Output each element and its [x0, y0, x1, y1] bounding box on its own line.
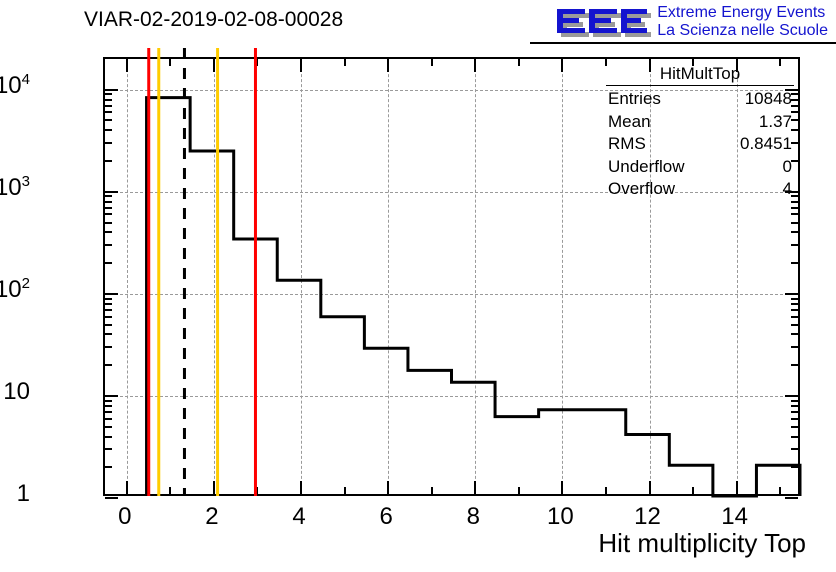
y-tick-minor-right [791, 418, 798, 420]
y-tick-minor-right [791, 364, 798, 366]
y-axis-label: 10 [3, 378, 30, 406]
y-tick-minor [105, 93, 112, 95]
stats-label-rms: RMS [608, 133, 646, 156]
y-tick-minor [105, 129, 112, 131]
y-tick-minor [105, 160, 112, 162]
y-tick-minor [105, 244, 112, 246]
x-axis-title: Hit multiplicity Top [598, 528, 806, 559]
y-tick-minor [105, 316, 112, 318]
y-tick-minor-right [791, 333, 798, 335]
plot-canvas: VIAR-02-2019-02-08-00028 [0, 0, 836, 572]
x-tick-minor [344, 487, 346, 494]
stats-value-underflow: 0 [783, 156, 792, 179]
y-tick-minor [105, 119, 112, 121]
x-tick-minor [169, 487, 171, 494]
x-gridline [475, 59, 476, 494]
y-tick-minor [105, 426, 112, 428]
x-tick-minor-top [518, 59, 520, 66]
y-axis-label: 104 [0, 72, 30, 100]
header-divider [530, 42, 836, 44]
y-tick-major-right [785, 497, 798, 499]
stats-label-entries: Entries [608, 88, 661, 111]
x-axis-label: 0 [118, 503, 131, 531]
stats-label-overflow: Overflow [608, 178, 675, 201]
stats-label-underflow: Underflow [608, 156, 685, 179]
y-tick-minor [105, 207, 112, 209]
y-tick-minor-right [791, 244, 798, 246]
y-tick-minor [105, 309, 112, 311]
x-tick-major [561, 481, 563, 494]
y-tick-minor [105, 262, 112, 264]
y-tick-minor [105, 405, 112, 407]
y-tick-major [105, 191, 118, 193]
y-tick-minor [105, 99, 112, 101]
x-tick-major [300, 481, 302, 494]
stats-title: HitMultTop [606, 64, 794, 86]
x-tick-major-top [126, 59, 128, 72]
stats-box: HitMultTop Entries 10848 Mean 1.37 RMS 0… [606, 64, 794, 201]
y-tick-minor [105, 411, 112, 413]
x-tick-major-top [561, 59, 563, 72]
y-tick-minor-right [791, 303, 798, 305]
y-tick-minor [105, 303, 112, 305]
stats-value-mean: 1.37 [759, 111, 792, 134]
x-tick-major [474, 481, 476, 494]
y-tick-minor-right [791, 316, 798, 318]
x-tick-major-top [474, 59, 476, 72]
x-tick-minor-top [169, 59, 171, 66]
x-tick-minor-top [344, 59, 346, 66]
y-tick-major [105, 89, 118, 91]
y-gridline [105, 294, 798, 295]
x-tick-major [649, 481, 651, 494]
x-axis-label: 14 [721, 503, 748, 531]
eee-logo-text: Extreme Energy Events La Scienza nelle S… [657, 4, 828, 40]
x-tick-major-top [300, 59, 302, 72]
y-tick-minor-right [791, 262, 798, 264]
eee-logo: Extreme Energy Events La Scienza nelle S… [553, 2, 828, 42]
x-tick-minor [779, 487, 781, 494]
y-tick-minor [105, 346, 112, 348]
y-tick-minor-right [791, 309, 798, 311]
y-tick-minor [105, 213, 112, 215]
y-axis-label: 102 [0, 276, 30, 304]
x-tick-major-top [213, 59, 215, 72]
y-tick-minor-right [791, 466, 798, 468]
eee-logo-line2: La Scienza nelle Scuole [657, 22, 828, 40]
y-tick-minor [105, 466, 112, 468]
x-gridline [301, 59, 302, 494]
x-gridline [127, 59, 128, 494]
x-axis-label: 12 [634, 503, 661, 531]
y-tick-minor-right [791, 298, 798, 300]
eee-logo-mark [553, 4, 651, 40]
y-tick-major [105, 395, 118, 397]
stats-row-mean: Mean 1.37 [606, 111, 794, 134]
stats-value-rms: 0.8451 [740, 133, 792, 156]
x-tick-major [736, 481, 738, 494]
y-tick-minor-right [791, 411, 798, 413]
y-tick-minor-right [791, 346, 798, 348]
y-tick-minor [105, 222, 112, 224]
x-tick-minor [605, 487, 607, 494]
x-gridline [388, 59, 389, 494]
y-tick-minor [105, 142, 112, 144]
stats-row-entries: Entries 10848 [606, 88, 794, 111]
y-tick-minor [105, 418, 112, 420]
y-tick-minor-right [791, 436, 798, 438]
stats-label-mean: Mean [608, 111, 651, 134]
y-tick-major [105, 293, 118, 295]
y-tick-minor-right [791, 400, 798, 402]
y-tick-minor-right [791, 324, 798, 326]
stats-value-overflow: 4 [783, 178, 792, 201]
y-tick-minor [105, 201, 112, 203]
x-axis-label: 10 [547, 503, 574, 531]
y-tick-minor-right [791, 231, 798, 233]
x-tick-major [387, 481, 389, 494]
y-tick-minor-right [791, 207, 798, 209]
x-tick-minor [256, 487, 258, 494]
page-title: VIAR-02-2019-02-08-00028 [84, 8, 343, 32]
y-tick-major-right [785, 395, 798, 397]
y-tick-major [105, 497, 118, 499]
x-tick-minor [692, 487, 694, 494]
x-tick-minor-top [256, 59, 258, 66]
y-tick-minor [105, 448, 112, 450]
y-tick-minor [105, 400, 112, 402]
y-tick-minor [105, 195, 112, 197]
y-tick-minor-right [791, 213, 798, 215]
x-tick-minor [518, 487, 520, 494]
y-tick-minor [105, 364, 112, 366]
y-tick-minor [105, 105, 112, 107]
y-tick-minor-right [791, 448, 798, 450]
x-tick-major-top [387, 59, 389, 72]
x-gridline [562, 59, 563, 494]
x-axis-label: 8 [467, 503, 480, 531]
x-axis-label: 4 [292, 503, 305, 531]
x-tick-major [126, 481, 128, 494]
y-gridline [105, 396, 798, 397]
x-tick-major [213, 481, 215, 494]
y-axis-label: 1 [17, 480, 30, 508]
stats-row-rms: RMS 0.8451 [606, 133, 794, 156]
y-tick-minor-right [791, 426, 798, 428]
x-tick-minor-top [431, 59, 433, 66]
stats-value-entries: 10848 [745, 88, 792, 111]
y-tick-minor [105, 298, 112, 300]
eee-logo-line1: Extreme Energy Events [657, 4, 828, 22]
y-tick-minor [105, 436, 112, 438]
y-axis-label: 103 [0, 174, 30, 202]
y-tick-minor [105, 324, 112, 326]
y-tick-minor-right [791, 222, 798, 224]
y-tick-major-right [785, 293, 798, 295]
stats-row-underflow: Underflow 0 [606, 156, 794, 179]
x-axis-label: 6 [379, 503, 392, 531]
x-gridline [214, 59, 215, 494]
stats-row-overflow: Overflow 4 [606, 178, 794, 201]
y-tick-minor [105, 111, 112, 113]
x-tick-minor [431, 487, 433, 494]
y-tick-minor [105, 231, 112, 233]
y-tick-minor-right [791, 405, 798, 407]
y-tick-minor [105, 333, 112, 335]
x-axis-label: 2 [205, 503, 218, 531]
